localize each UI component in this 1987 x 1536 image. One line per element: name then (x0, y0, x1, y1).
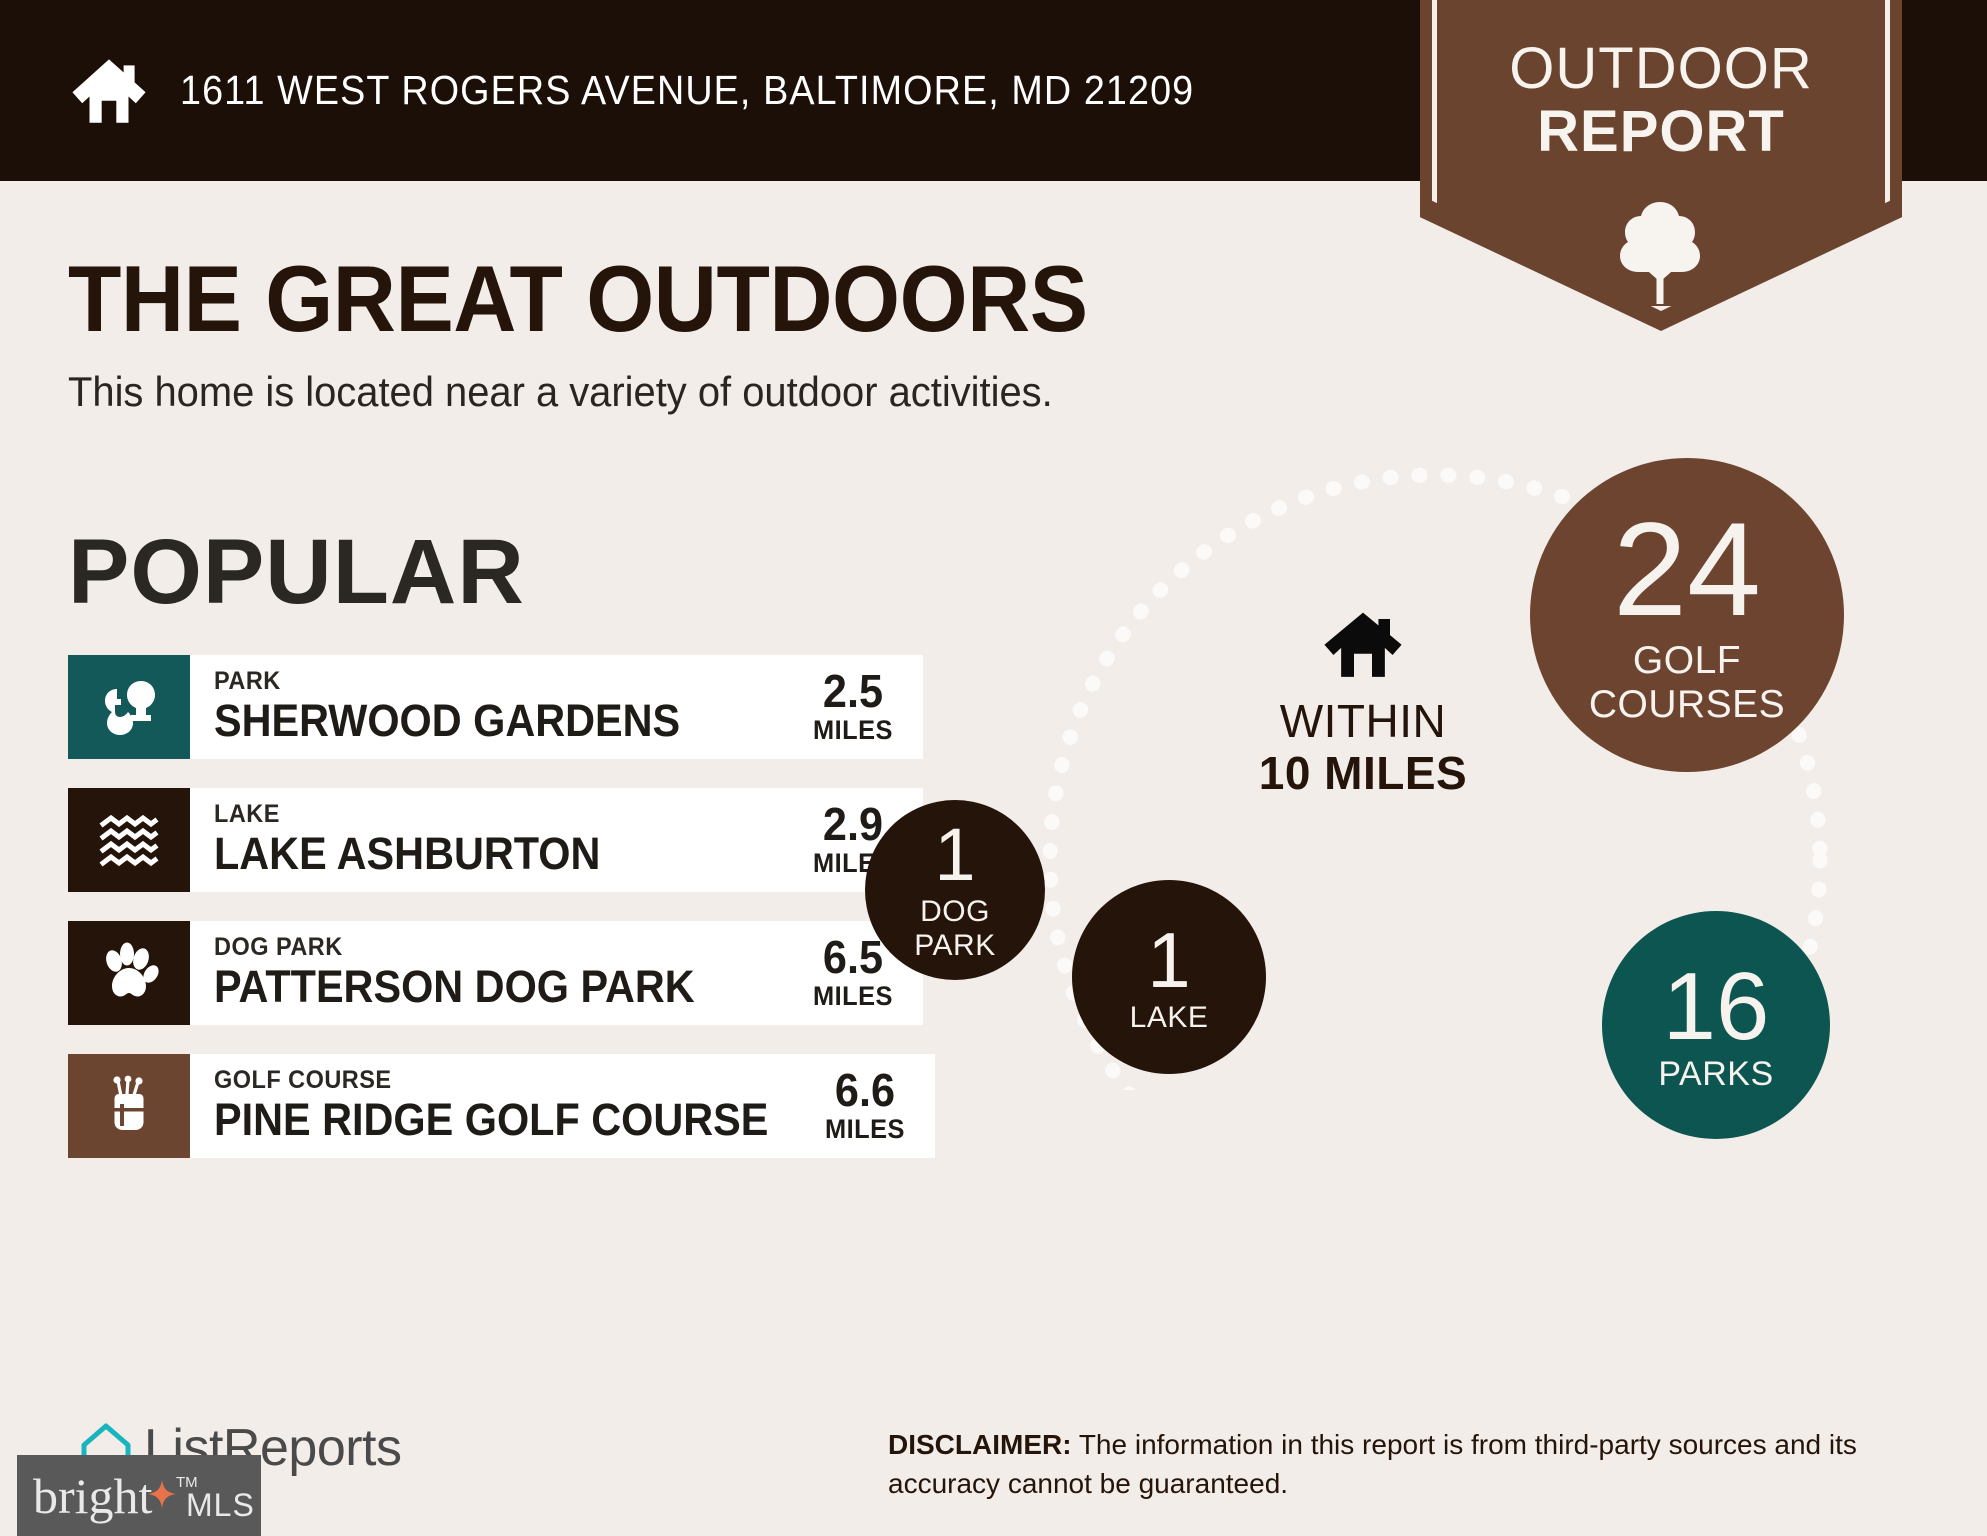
list-item-body: LAKE LAKE ASHBURTON 2.9 MILES (190, 788, 923, 892)
bubble-value: 24 (1613, 504, 1761, 637)
poi-distance-unit: MILES (819, 1115, 909, 1145)
park-trees-icon (68, 655, 190, 759)
bubble-label-line1: LAKE (1130, 1003, 1209, 1033)
paw-print-icon (68, 921, 190, 1025)
popular-list: PARK SHERWOOD GARDENS 2.5 MILES LAKE (68, 655, 923, 1187)
bright-star-icon (148, 1480, 176, 1508)
bubble-dog-park[interactable]: 1 DOG PARK (865, 800, 1045, 980)
bubble-label-line1: GOLF (1633, 639, 1741, 683)
bright-wordmark: bright (33, 1471, 152, 1521)
poi-name: PINE RIDGE GOLF COURSE (214, 1096, 768, 1145)
property-address: 1611 WEST ROGERS AVENUE, BALTIMORE, MD 2… (180, 67, 1194, 114)
poi-name: PATTERSON DOG PARK (214, 963, 695, 1012)
poi-distance-unit: MILES (808, 982, 898, 1012)
disclaimer: DISCLAIMER: The information in this repo… (888, 1426, 1920, 1503)
list-item[interactable]: DOG PARK PATTERSON DOG PARK 6.5 MILES (68, 921, 923, 1025)
home-icon (1321, 610, 1405, 682)
poi-distance-unit: MILES (808, 716, 898, 746)
poi-distance: 6.6 (819, 1067, 909, 1113)
bubble-value: 1 (934, 818, 975, 892)
popular-heading: POPULAR (68, 520, 525, 625)
poi-category: DOG PARK (214, 934, 705, 960)
home-icon (70, 52, 148, 130)
page-subtitle: This home is located near a variety of o… (68, 368, 1053, 416)
badge-line-2: REPORT (1420, 103, 1902, 161)
poi-name: SHERWOOD GARDENS (214, 697, 680, 746)
list-item[interactable]: PARK SHERWOOD GARDENS 2.5 MILES (68, 655, 923, 759)
list-item-body: DOG PARK PATTERSON DOG PARK 6.5 MILES (190, 921, 923, 1025)
bubble-label-line2: PARK (914, 929, 995, 963)
badge-line-1: OUTDOOR (1420, 40, 1902, 98)
poi-distance: 2.5 (808, 668, 898, 714)
list-item[interactable]: GOLF COURSE PINE RIDGE GOLF COURSE 6.6 M… (68, 1054, 923, 1158)
bubble-parks[interactable]: 16 PARKS (1602, 911, 1830, 1139)
outdoor-amenities-bubble-chart: 24 GOLF COURSES 16 PARKS 1 DOG PARK 1 LA… (1010, 370, 1987, 1090)
disclaimer-label: DISCLAIMER: (888, 1429, 1072, 1460)
badge-title: OUTDOOR REPORT (1420, 40, 1902, 161)
poi-name: LAKE ASHBURTON (214, 830, 600, 879)
bubble-label-line1: PARKS (1658, 1057, 1773, 1091)
list-item-body: GOLF COURSE PINE RIDGE GOLF COURSE 6.6 M… (190, 1054, 935, 1158)
water-waves-icon (68, 788, 190, 892)
poi-category: LAKE (214, 801, 609, 827)
list-item-body: PARK SHERWOOD GARDENS 2.5 MILES (190, 655, 923, 759)
page-title: THE GREAT OUTDOORS (68, 245, 1088, 353)
center-label-line1: WITHIN (1238, 696, 1488, 748)
bubble-value: 16 (1663, 959, 1770, 1055)
bubble-value: 1 (1147, 921, 1190, 999)
bubble-label-line1: DOG (920, 895, 990, 929)
bright-mls-text: MLS (186, 1487, 255, 1524)
poi-category: GOLF COURSE (214, 1067, 780, 1093)
bubble-golf-courses[interactable]: 24 GOLF COURSES (1530, 458, 1844, 772)
center-label-line2: 10 MILES (1238, 748, 1488, 800)
golf-bag-icon (68, 1054, 190, 1158)
list-item[interactable]: LAKE LAKE ASHBURTON 2.9 MILES (68, 788, 923, 892)
diagram-center-label: WITHIN 10 MILES (1238, 610, 1488, 799)
bubble-label-line2: COURSES (1589, 683, 1785, 727)
tree-icon (1610, 198, 1710, 308)
bubble-lake[interactable]: 1 LAKE (1072, 880, 1266, 1074)
poi-category: PARK (214, 668, 690, 694)
